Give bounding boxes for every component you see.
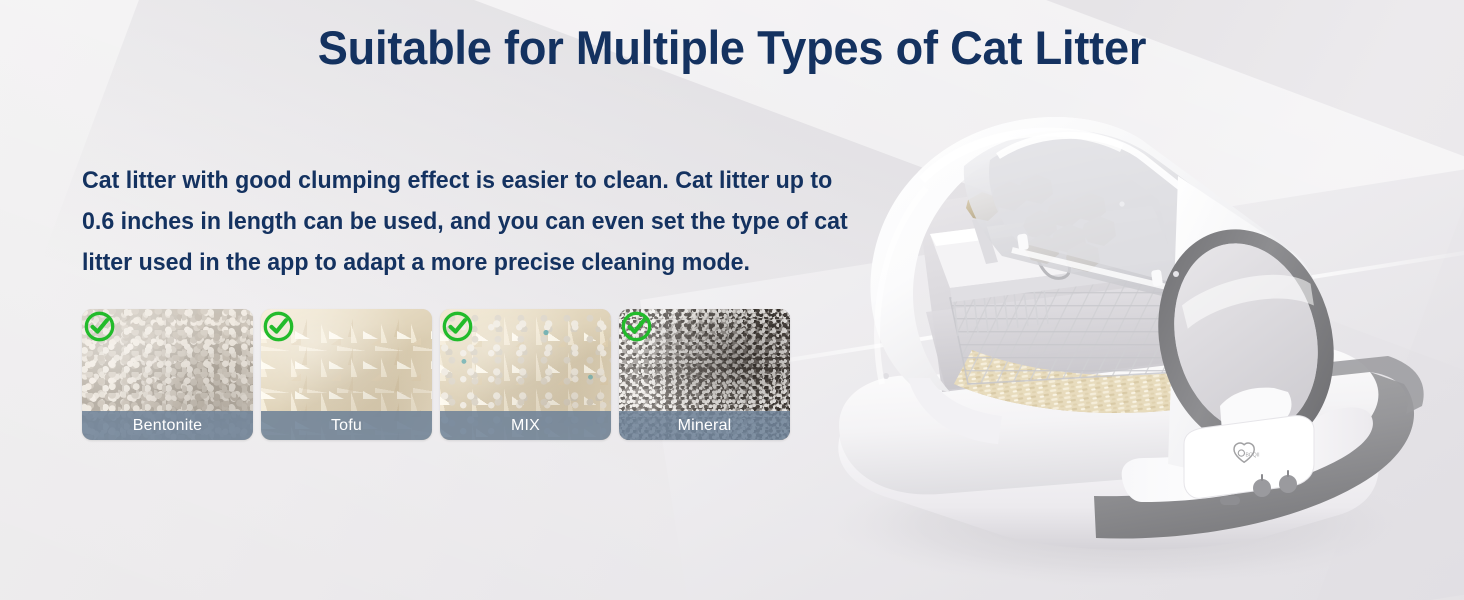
green-check-circle-icon	[262, 310, 295, 343]
page-title: Suitable for Multiple Types of Cat Litte…	[29, 20, 1434, 75]
litter-type-label: Mineral	[619, 411, 790, 440]
green-check-circle-icon	[83, 310, 116, 343]
litter-type-card-tofu[interactable]: Tofu	[261, 309, 432, 440]
litter-type-card-list: Bentonite Tofu MIX Mineral	[82, 309, 790, 440]
svg-text:BOQII: BOQII	[1246, 453, 1260, 459]
litter-type-label: MIX	[440, 411, 611, 440]
shell-screw-right	[1173, 271, 1179, 277]
litter-type-card-mix[interactable]: MIX	[440, 309, 611, 440]
product-image-litter-box: BOQII	[822, 84, 1464, 600]
cycle-button	[1279, 475, 1297, 493]
litter-type-card-mineral[interactable]: Mineral	[619, 309, 790, 440]
litter-type-label: Tofu	[261, 411, 432, 440]
cat-litter-feature-banner: Suitable for Multiple Types of Cat Litte…	[0, 0, 1464, 600]
power-button	[1253, 479, 1271, 497]
green-check-circle-icon	[620, 310, 653, 343]
litter-type-label: Bentonite	[82, 411, 253, 440]
description-text: Cat litter with good clumping effect is …	[82, 160, 864, 283]
usb-port	[1220, 496, 1240, 505]
litter-type-card-bentonite[interactable]: Bentonite	[82, 309, 253, 440]
green-check-circle-icon	[441, 310, 474, 343]
